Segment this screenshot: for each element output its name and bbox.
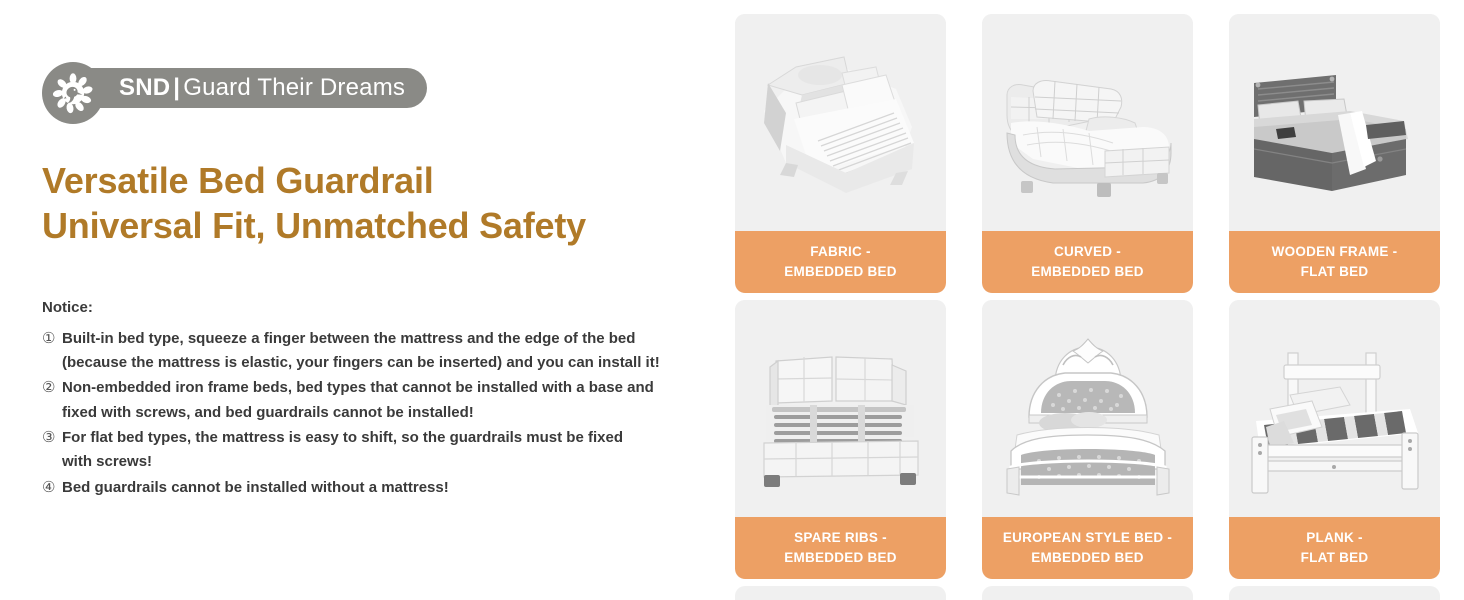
notice-text-line: For flat bed types, the mattress is easy… — [62, 426, 730, 450]
list-item: ④ Bed guardrails cannot be installed wit… — [42, 476, 730, 500]
bed-type-card-grid: FABRIC - EMBEDDED BED — [730, 0, 1464, 600]
bed-type-label-line: SPARE RIBS - — [794, 528, 887, 548]
next-row-card-stubs — [735, 586, 1464, 600]
bed-type-label-line: EUROPEAN STYLE BED - — [1003, 528, 1172, 548]
notice-number: ② — [42, 376, 62, 400]
bed-type-label-line: EMBEDDED BED — [1031, 548, 1144, 568]
bed-type-label-line: EMBEDDED BED — [1031, 262, 1144, 282]
bed-type-label-line: WOODEN FRAME - — [1272, 242, 1398, 262]
bed-type-label: WOODEN FRAME - FLAT BED — [1229, 231, 1440, 293]
bed-type-label-line: EMBEDDED BED — [784, 262, 897, 282]
bed-type-label-line: FABRIC - — [810, 242, 871, 262]
list-item: ② Non-embedded iron frame beds, bed type… — [42, 376, 730, 425]
bed-type-card[interactable]: CURVED - EMBEDDED BED — [982, 14, 1193, 293]
brand-text: SND|Guard Their Dreams — [119, 76, 405, 100]
bed-type-card-stub[interactable] — [735, 586, 946, 600]
notice-text-line: Bed guardrails cannot be installed witho… — [62, 476, 730, 500]
curved-embedded-bed-photo — [982, 14, 1193, 231]
bed-type-label-line: EMBEDDED BED — [784, 548, 897, 568]
notice-text-line: fixed with screws, and bed guardrails ca… — [62, 401, 730, 425]
brand-pill: SND|Guard Their Dreams — [65, 68, 427, 108]
bed-type-label: SPARE RIBS - EMBEDDED BED — [735, 517, 946, 579]
notice-list: ① Built-in bed type, squeeze a finger be… — [42, 327, 730, 500]
bed-type-label-line: CURVED - — [1054, 242, 1121, 262]
bed-type-card[interactable]: EUROPEAN STYLE BED - EMBEDDED BED — [982, 300, 1193, 579]
notice-number: ① — [42, 327, 62, 351]
notice-text-line: (because the mattress is elastic, your f… — [62, 351, 730, 375]
bed-type-card-stub[interactable] — [1229, 586, 1440, 600]
wooden-frame-flat-bed-photo — [1229, 14, 1440, 231]
left-content-panel: SND|Guard Their Dreams Versatile Bed Gua… — [0, 0, 730, 600]
notice-text-line: with screws! — [62, 450, 730, 474]
headline-line-1: Versatile Bed Guardrail — [42, 158, 730, 203]
plank-flat-bed-photo — [1229, 300, 1440, 517]
list-item: ③ For flat bed types, the mattress is ea… — [42, 426, 730, 475]
bed-type-card-stub[interactable] — [982, 586, 1193, 600]
page-title: Versatile Bed Guardrail Universal Fit, U… — [42, 158, 730, 249]
bed-type-label-line: FLAT BED — [1301, 262, 1369, 282]
notice-number: ④ — [42, 476, 62, 500]
brand-lockup: SND|Guard Their Dreams — [42, 62, 427, 114]
notice-text: Built-in bed type, squeeze a finger betw… — [62, 327, 730, 376]
notice-title: Notice: — [42, 299, 730, 316]
bed-type-label: PLANK - FLAT BED — [1229, 517, 1440, 579]
notice-block: Notice: ① Built-in bed type, squeeze a f… — [42, 299, 730, 500]
headline-line-2: Universal Fit, Unmatched Safety — [42, 203, 730, 248]
notice-number: ③ — [42, 426, 62, 450]
flower-bird-logo-icon — [42, 62, 104, 124]
bed-type-card[interactable]: SPARE RIBS - EMBEDDED BED — [735, 300, 946, 579]
notice-text: For flat bed types, the mattress is easy… — [62, 426, 730, 475]
bed-type-card[interactable]: PLANK - FLAT BED — [1229, 300, 1440, 579]
bed-type-label: EUROPEAN STYLE BED - EMBEDDED BED — [982, 517, 1193, 579]
notice-text-line: Built-in bed type, squeeze a finger betw… — [62, 327, 730, 351]
list-item: ① Built-in bed type, squeeze a finger be… — [42, 327, 730, 376]
bed-type-label-line: FLAT BED — [1301, 548, 1369, 568]
bed-type-label-line: PLANK - — [1306, 528, 1363, 548]
bed-type-label: FABRIC - EMBEDDED BED — [735, 231, 946, 293]
brand-tagline: Guard Their Dreams — [183, 74, 405, 101]
notice-text: Bed guardrails cannot be installed witho… — [62, 476, 730, 500]
promo-banner: SND|Guard Their Dreams Versatile Bed Gua… — [0, 0, 1464, 600]
bed-type-label: CURVED - EMBEDDED BED — [982, 231, 1193, 293]
european-style-embedded-bed-photo — [982, 300, 1193, 517]
bed-type-card[interactable]: FABRIC - EMBEDDED BED — [735, 14, 946, 293]
brand-name: SND — [119, 74, 170, 101]
bed-type-card[interactable]: WOODEN FRAME - FLAT BED — [1229, 14, 1440, 293]
notice-text-line: Non-embedded iron frame beds, bed types … — [62, 376, 730, 400]
fabric-embedded-bed-photo — [735, 14, 946, 231]
notice-text: Non-embedded iron frame beds, bed types … — [62, 376, 730, 425]
brand-separator: | — [170, 74, 183, 101]
spare-ribs-embedded-bed-photo — [735, 300, 946, 517]
